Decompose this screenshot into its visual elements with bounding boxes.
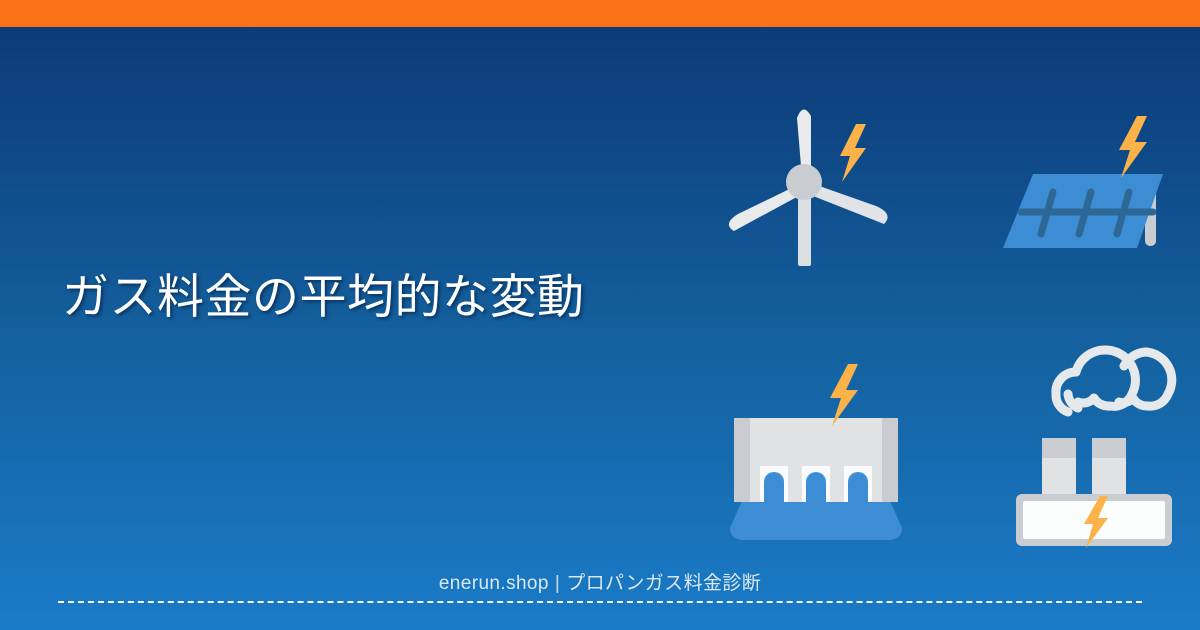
footer-site: enerun.shop <box>439 573 549 595</box>
top-accent-bar <box>0 0 1200 27</box>
wind-turbine-icon <box>716 86 916 266</box>
page-title: ガス料金の平均的な変動 <box>62 268 682 327</box>
footer-divider <box>58 601 1142 603</box>
power-plant-icon <box>1000 336 1190 551</box>
og-card: ガス料金の平均的な変動 <box>0 0 1200 630</box>
footer-separator: | <box>549 573 566 595</box>
footer: enerun.shop|プロパンガス料金診断 <box>0 568 1200 595</box>
solar-panel-icon <box>985 106 1200 266</box>
hydroelectric-dam-icon <box>716 356 916 546</box>
footer-tagline: プロパンガス料金診断 <box>566 568 761 595</box>
